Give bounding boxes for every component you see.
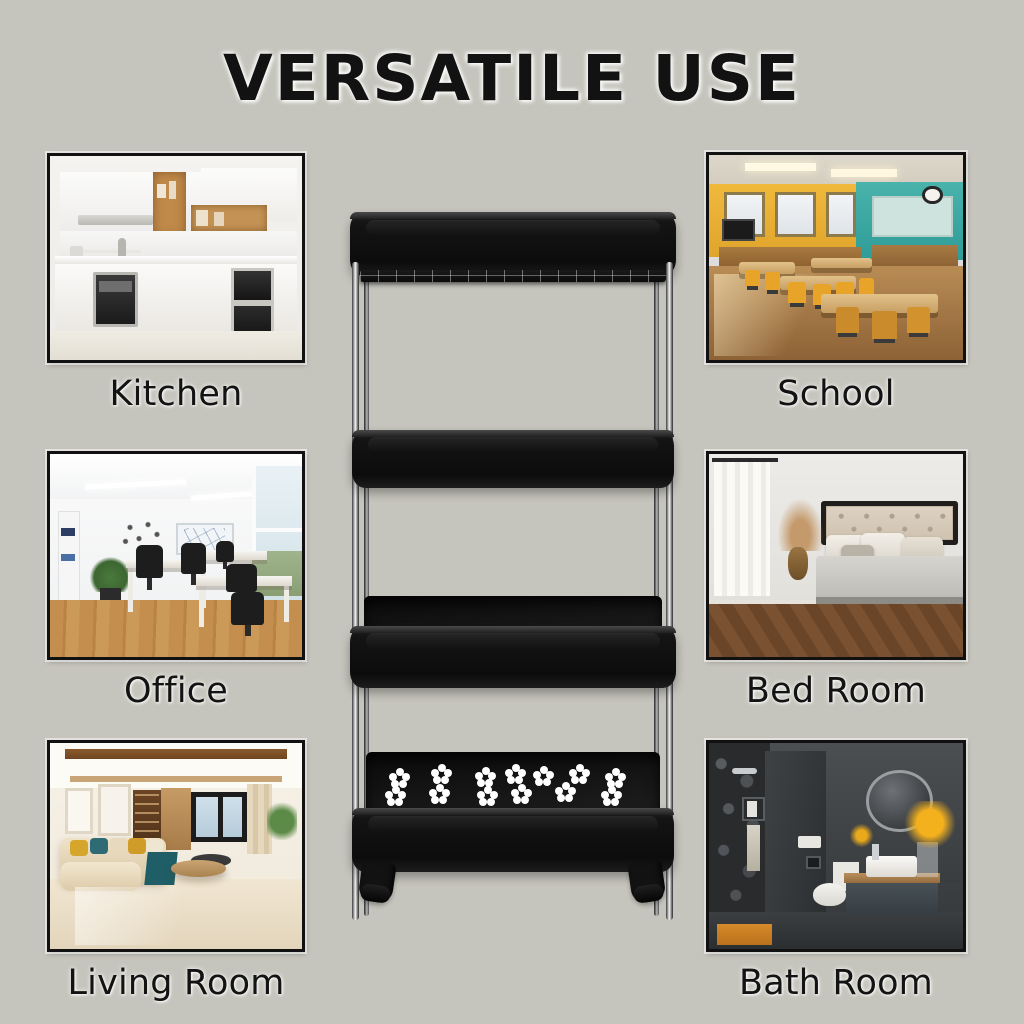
scene-label-school: School	[706, 374, 966, 414]
scene-card-kitchen[interactable]: Kitchen	[47, 153, 305, 414]
cart-tier-4-tray	[352, 808, 674, 872]
product-image-rolling-cart[interactable]	[338, 196, 688, 912]
scene-card-school[interactable]: School	[706, 152, 966, 414]
scene-label-bedroom: Bed Room	[706, 671, 966, 711]
office-illustration	[50, 454, 302, 657]
cart-caster-left	[357, 860, 396, 904]
cart-tier-3-tray	[350, 626, 676, 688]
cart-caster-right	[627, 860, 666, 904]
scene-card-livingroom[interactable]: Living Room	[47, 740, 305, 1003]
bedroom-illustration	[709, 454, 963, 657]
scene-photo-bedroom	[706, 451, 966, 660]
school-illustration	[709, 155, 963, 360]
scene-label-office: Office	[47, 671, 305, 711]
scene-photo-bathroom	[706, 740, 966, 952]
scene-label-livingroom: Living Room	[47, 963, 305, 1003]
scene-card-office[interactable]: Office	[47, 451, 305, 711]
scene-label-kitchen: Kitchen	[47, 374, 305, 414]
scene-photo-kitchen	[47, 153, 305, 363]
cart-tier-1-grid	[360, 270, 666, 282]
livingroom-illustration	[50, 743, 302, 949]
bathroom-illustration	[709, 743, 963, 949]
kitchen-illustration	[50, 156, 302, 360]
scene-card-bedroom[interactable]: Bed Room	[706, 451, 966, 711]
scene-photo-livingroom	[47, 740, 305, 952]
scene-photo-school	[706, 152, 966, 363]
cart-tier-1-tray	[350, 212, 676, 276]
page-title: VERSATILE USE	[0, 42, 1024, 115]
scene-label-bathroom: Bath Room	[706, 963, 966, 1003]
cart-tier-2-tray	[352, 430, 674, 488]
scene-card-bathroom[interactable]: Bath Room	[706, 740, 966, 1003]
scene-photo-office	[47, 451, 305, 660]
